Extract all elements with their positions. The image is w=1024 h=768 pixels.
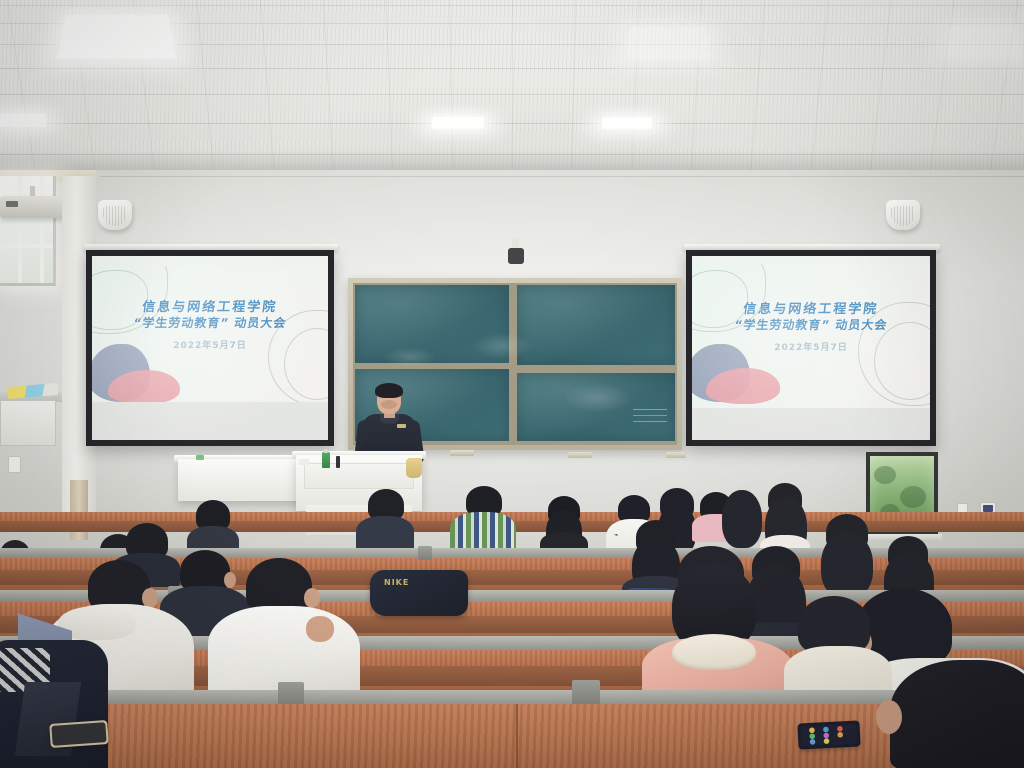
slide-title-line1: 信息与网络工程学院 xyxy=(692,298,930,317)
bench-divider xyxy=(418,546,432,560)
slide-title-line1: 信息与网络工程学院 xyxy=(92,296,328,315)
marker-pen[interactable] xyxy=(336,456,340,468)
slide-content-left: 信息与网络工程学院 “学生劳动教育” 动员大会 2022年5月7日 xyxy=(92,266,328,402)
wall-speaker-left xyxy=(98,200,132,230)
presenter-face xyxy=(381,400,397,409)
lace-collar xyxy=(672,634,756,670)
left-projection-screen: 信息与网络工程学院 “学生劳动教育” 动员大会 2022年5月7日 xyxy=(86,250,334,446)
backpack-black[interactable]: NIKE xyxy=(370,570,468,616)
chalk-smudge xyxy=(563,383,633,413)
chalk-smudge xyxy=(473,333,533,359)
front-desk-surface xyxy=(0,704,1024,768)
slide-title-line2: “学生劳动教育” 动员大会 xyxy=(92,314,328,331)
slide-title-line2: “学生劳动教育” 动员大会 xyxy=(692,316,930,333)
ceiling-light-6 xyxy=(601,118,652,129)
desk-item-green xyxy=(196,455,204,460)
classroom-photo: 信息与网络工程学院 “学生劳动教育” 动员大会 2022年5月7日 信息与网络工… xyxy=(0,0,1024,768)
projector xyxy=(0,196,66,218)
student-hand xyxy=(306,616,334,642)
screen-lower-blank-left xyxy=(92,402,328,440)
chalk-smudge xyxy=(383,347,437,367)
ceiling-light-3 xyxy=(946,26,1022,57)
chalk-tray-far xyxy=(666,452,686,458)
student-ear xyxy=(224,572,236,588)
phone-screen xyxy=(51,722,106,746)
ceiling-camera xyxy=(508,248,524,264)
student-long-hair xyxy=(722,490,762,548)
wall-seam xyxy=(100,176,1024,177)
lectern-panel xyxy=(304,463,414,489)
student-long-hair xyxy=(821,532,873,598)
wall-speaker-right xyxy=(886,200,920,230)
desk-seam xyxy=(516,704,518,768)
ceiling xyxy=(0,0,1024,178)
chalk-tray-left xyxy=(450,450,474,456)
slide-date: 2022年5月7日 xyxy=(692,340,930,353)
right-projection-screen: 信息与网络工程学院 “学生劳动教育” 动员大会 2022年5月7日 xyxy=(686,250,936,446)
phone-app-grid xyxy=(801,724,858,747)
presenter-shirt-logo xyxy=(397,424,406,428)
smartphone-foreground-left[interactable] xyxy=(49,720,109,748)
window-left xyxy=(0,176,56,286)
student-ear xyxy=(304,588,320,608)
ceiling-light-5 xyxy=(431,117,485,129)
presenter-hair xyxy=(375,383,403,398)
yellow-bag[interactable] xyxy=(406,458,422,478)
ceiling-light-2 xyxy=(626,27,711,60)
student-torso xyxy=(356,516,414,552)
paper-cup[interactable] xyxy=(299,459,309,465)
student-ear xyxy=(876,700,902,734)
wall-outlet-left[interactable] xyxy=(8,456,21,473)
water-bottle[interactable] xyxy=(322,452,330,468)
shirt-print: ⌁ xyxy=(614,531,618,539)
screen-lower-blank-right xyxy=(692,408,930,440)
blackboard-panel-top-right xyxy=(517,285,675,365)
backpack-logo: NIKE xyxy=(384,578,409,587)
student-foreground-right xyxy=(890,660,1024,768)
ac-wall-vent xyxy=(0,400,56,446)
chalk-tray-right xyxy=(568,452,592,458)
slide-date: 2022年5月7日 xyxy=(92,338,328,351)
slide-content-right: 信息与网络工程学院 “学生劳动教育” 动员大会 2022年5月7日 xyxy=(692,264,930,408)
ceiling-light-4 xyxy=(0,114,47,127)
ceiling-light-1 xyxy=(58,15,177,58)
smartphone-foreground-right[interactable] xyxy=(797,720,860,749)
chalk-writing xyxy=(633,407,667,431)
